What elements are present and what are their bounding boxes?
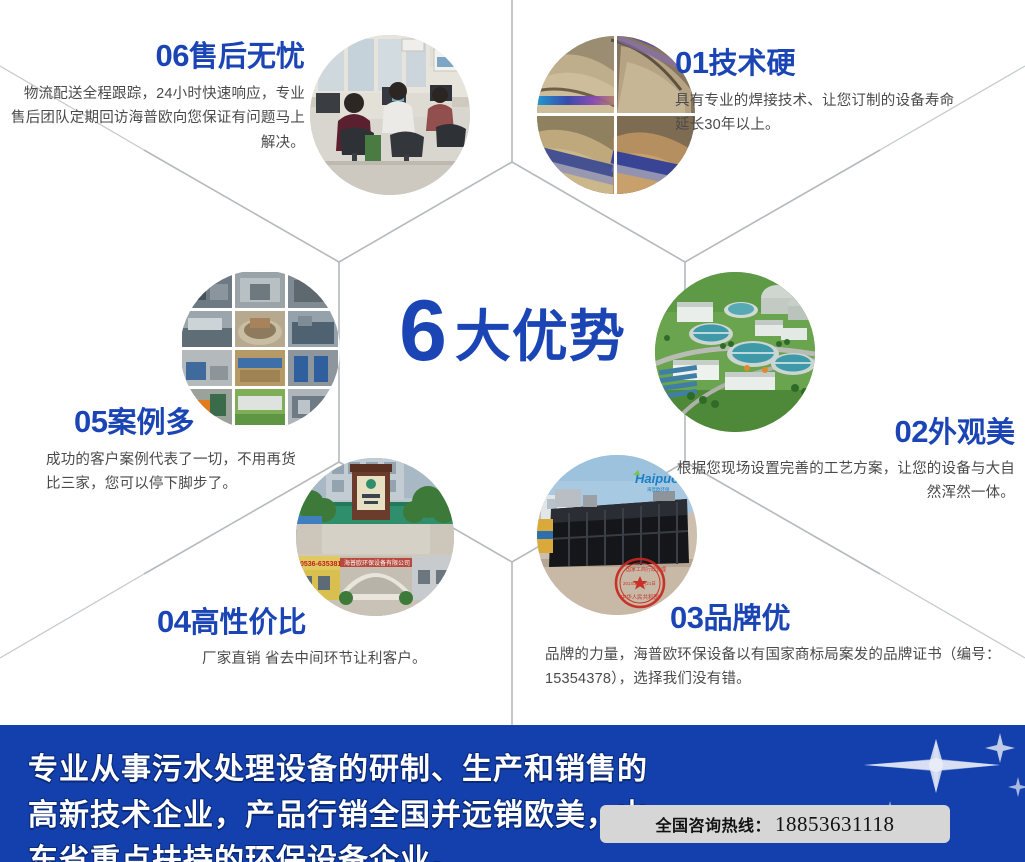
feature-03-desc: 品牌的力量，海普欧环保设备以有国家商标局案发的品牌证书（编号：15354378）… xyxy=(545,643,1015,693)
feature-04: 04高性价比 厂家直销 省去中间环节让利客户。 xyxy=(157,606,457,671)
svg-text:海普欧环保设备有限公司: 海普欧环保设备有限公司 xyxy=(344,559,410,567)
feature-05-title-text: 案例多 xyxy=(107,407,194,439)
feature-06: 06售后无忧 物流配送全程跟踪，24小时快速响应，专业售后团队定期回访海普欧向您… xyxy=(10,40,305,156)
feature-06-desc: 物流配送全程跟踪，24小时快速响应，专业售后团队定期回访海普欧向您保证有问题马上… xyxy=(10,82,305,157)
feature-02-title-text: 外观美 xyxy=(928,417,1015,449)
feature-01-title-text: 技术硬 xyxy=(708,48,795,80)
feature-02-desc: 根据您现场设置完善的工艺方案，让您的设备与大自然浑然一体。 xyxy=(675,457,1015,507)
feature-05-desc: 成功的客户案例代表了一切，不用再货比三家，您可以停下脚步了。 xyxy=(46,448,301,498)
feature-06-title-text: 售后无忧 xyxy=(189,41,305,73)
hotline-box: 全国咨询热线： 18853631118 xyxy=(600,805,950,843)
advantages-infographic: 6大优势 xyxy=(0,0,1025,862)
feature-03: 03品牌优 品牌的力量，海普欧环保设备以有国家商标局案发的品牌证书（编号：153… xyxy=(545,602,1015,692)
photo-03-equipment-tanks: Haipuou 海普欧环保 中华人民共和国 国家工商行政管理 2014年10月2… xyxy=(537,455,697,615)
feature-04-number: 04 xyxy=(157,604,190,639)
photo-04-factory-entrance: 0536-6353818 海普欧环保设备有限公司 xyxy=(296,458,454,616)
banner-text: 专业从事污水处理设备的研制、生产和销售的高新技术企业，产品行销全国并远销欧美，山… xyxy=(28,747,648,862)
feature-02-title: 02外观美 xyxy=(675,416,1015,449)
svg-text:中华人民共和国: 中华人民共和国 xyxy=(621,593,659,601)
svg-text:海普欧环保: 海普欧环保 xyxy=(647,486,670,493)
feature-01: 01技术硬 具有专业的焊接技术、让您订制的设备寿命延长30年以上。 xyxy=(675,47,960,138)
feature-04-desc: 厂家直销 省去中间环节让利客户。 xyxy=(202,647,457,672)
svg-text:0536-6353818: 0536-6353818 xyxy=(300,561,345,568)
feature-01-title: 01技术硬 xyxy=(675,47,960,80)
feature-03-title-text: 品牌优 xyxy=(703,603,790,635)
hotline-label: 全国咨询热线： xyxy=(656,812,772,836)
feature-01-desc: 具有专业的焊接技术、让您订制的设备寿命延长30年以上。 xyxy=(675,89,960,139)
feature-06-number: 06 xyxy=(156,38,189,73)
feature-06-title: 06售后无忧 xyxy=(10,40,305,73)
feature-04-title: 04高性价比 xyxy=(157,606,457,639)
photo-02-wastewater-plant xyxy=(655,272,815,432)
feature-01-number: 01 xyxy=(675,45,708,80)
feature-05-number: 05 xyxy=(74,404,107,439)
feature-02: 02外观美 根据您现场设置完善的工艺方案，让您的设备与大自然浑然一体。 xyxy=(675,416,1015,506)
hotline-number: 18853631118 xyxy=(775,812,894,837)
feature-04-title-text: 高性价比 xyxy=(190,607,306,639)
svg-text:2014年10月21日: 2014年10月21日 xyxy=(623,580,656,587)
feature-03-title: 03品牌优 xyxy=(670,602,1015,635)
svg-text:国家工商行政管理: 国家工商行政管理 xyxy=(626,566,666,573)
photo-06-office-staff xyxy=(310,35,470,195)
photo-01-welded-pipes xyxy=(537,36,695,194)
feature-03-number: 03 xyxy=(670,600,703,635)
feature-02-number: 02 xyxy=(895,414,928,449)
feature-05-title: 05案例多 xyxy=(74,406,301,439)
feature-05: 05案例多 成功的客户案例代表了一切，不用再货比三家，您可以停下脚步了。 xyxy=(46,406,301,497)
